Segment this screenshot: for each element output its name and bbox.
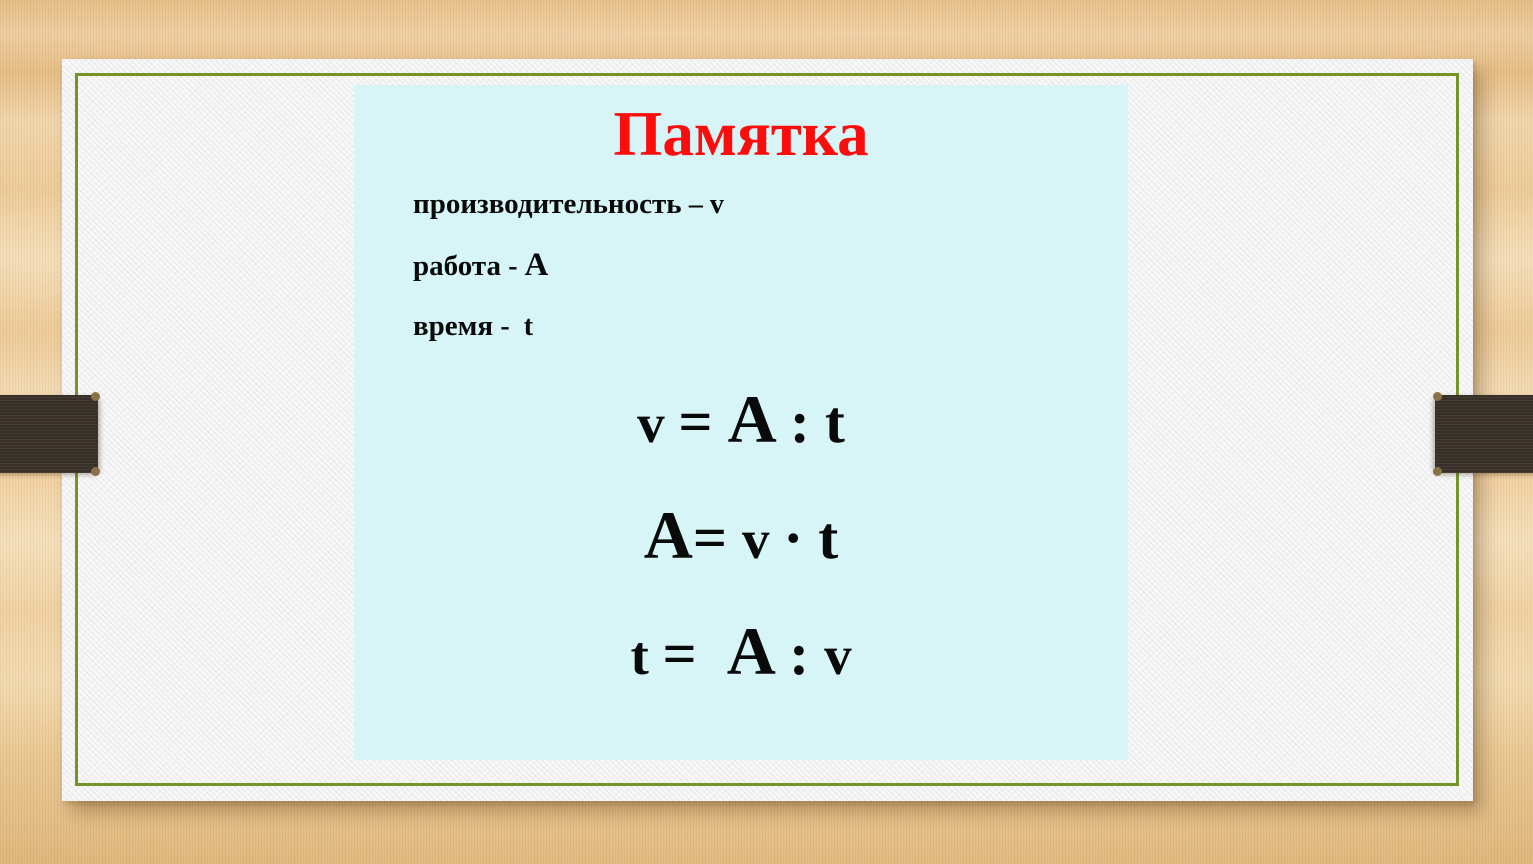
formula-row: t = A : v [354,617,1128,685]
formula-operand-a: A [727,613,789,689]
legend-term: время [413,310,500,342]
legend-symbol: v [710,189,724,220]
formula-lhs: v [637,393,678,454]
legend-list: производительность – v работа - А время … [413,190,1113,371]
content-panel: Памятка производительность – v работа - … [354,85,1128,760]
slide-canvas: Памятка производительность – v работа - … [0,0,1533,864]
formula-equals: = [663,621,727,687]
legend-dash: - [500,311,523,342]
formula-row: v = A : t [354,385,1128,453]
tab-pin-icon [91,467,100,476]
legend-symbol: А [525,247,549,283]
list-item: время - t [413,312,1113,341]
formula-lhs: t [630,625,662,686]
formula-operator: : [789,621,824,687]
bookmark-tab-right [1435,395,1533,473]
formula-operand-a: A [728,381,790,457]
formula-equals: = [678,389,727,455]
formula-operand-b: t [825,389,845,455]
tab-pin-icon [1433,392,1442,401]
list-item: работа - А [413,249,1113,282]
formula-row: A= v · t [354,501,1128,569]
tab-pin-icon [91,392,100,401]
bookmark-tab-left [0,395,98,473]
page-title: Памятка [354,103,1128,166]
legend-dash: – [689,189,710,220]
list-item: производительность – v [413,190,1113,219]
legend-term: производительность [413,188,689,220]
tab-pin-icon [1433,467,1442,476]
formula-operator: · [783,505,818,571]
formula-equals: = [693,505,742,571]
legend-dash: - [508,251,524,282]
formula-list: v = A : t A= v · t t = A : v [354,385,1128,733]
formula-lhs: A [644,497,693,573]
formula-operand-b: v [824,625,852,686]
legend-term: работа [413,250,508,282]
legend-symbol: t [524,311,533,342]
formula-operator: : [790,389,825,455]
formula-operand-a: v [742,509,783,570]
formula-operand-b: t [818,505,838,571]
